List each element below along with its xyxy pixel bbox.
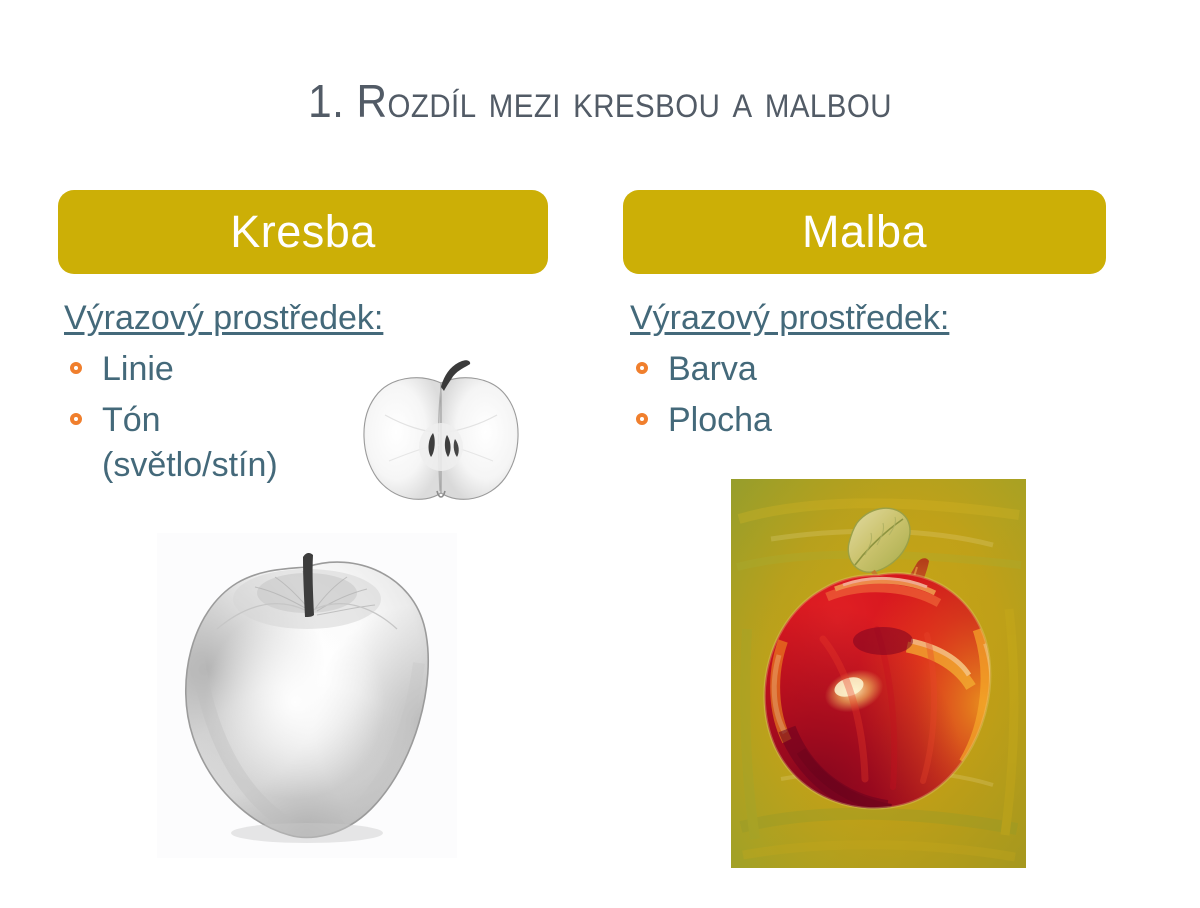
list-item-label: Linie [102,350,174,388]
column-header-kresba: Kresba [58,190,548,274]
subhead-kresba: Výrazový prostředek: [64,297,534,339]
page-title: 1. Rozdíl mezi kresbou a malbou [48,74,1152,128]
column-header-malba: Malba [623,190,1106,274]
list-item-label: Tón [102,401,161,439]
subhead-malba: Výrazový prostředek: [630,297,1100,339]
list-item-label: Barva [668,350,757,388]
list-item-label: Plocha [668,401,772,439]
circle-bullet-icon [70,398,90,443]
column-header-malba-label: Malba [802,206,927,258]
circle-bullet-icon [70,347,90,392]
list-item: Barva [630,347,1100,392]
circle-bullet-icon [636,347,656,392]
pencil-drawing-apple-half-image [345,353,538,521]
pencil-drawing-apple-whole-image [157,533,457,858]
column-header-kresba-label: Kresba [230,206,376,258]
circle-bullet-icon [636,398,656,443]
list-item: Plocha [630,398,1100,443]
bullet-list-malba: Barva Plocha [630,347,1100,443]
slide-canvas: 1. Rozdíl mezi kresbou a malbou Kresba M… [0,0,1200,908]
oil-painting-red-apple-image [731,479,1026,868]
column-malba: Výrazový prostředek: Barva Plocha [630,297,1100,443]
